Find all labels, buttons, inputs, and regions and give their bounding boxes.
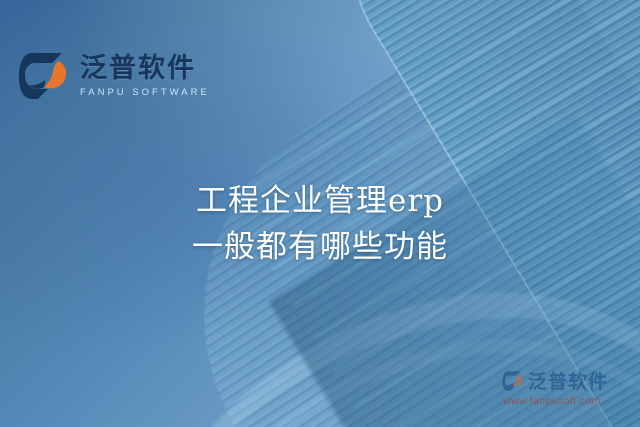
brand-text-block: 泛普软件 FANPU SOFTWARE (80, 55, 210, 98)
watermark-name-cn: 泛普软件 (528, 367, 608, 394)
promo-banner: 泛普软件 FANPU SOFTWARE 工程企业管理erp 一般都有哪些功能 泛… (0, 0, 640, 427)
brand-name-cn: 泛普软件 (80, 55, 210, 82)
fanpu-hexagon-logo-icon (502, 370, 524, 392)
brand-logo: 泛普软件 FANPU SOFTWARE (18, 50, 210, 102)
watermark-url: www.fanpusoft.com (503, 395, 601, 407)
watermark: 泛普软件 www.fanpusoft.com (502, 367, 634, 413)
fanpu-hexagon-logo-icon (18, 50, 70, 102)
brand-name-en: FANPU SOFTWARE (80, 88, 210, 98)
watermark-logo-row: 泛普软件 (502, 367, 608, 394)
